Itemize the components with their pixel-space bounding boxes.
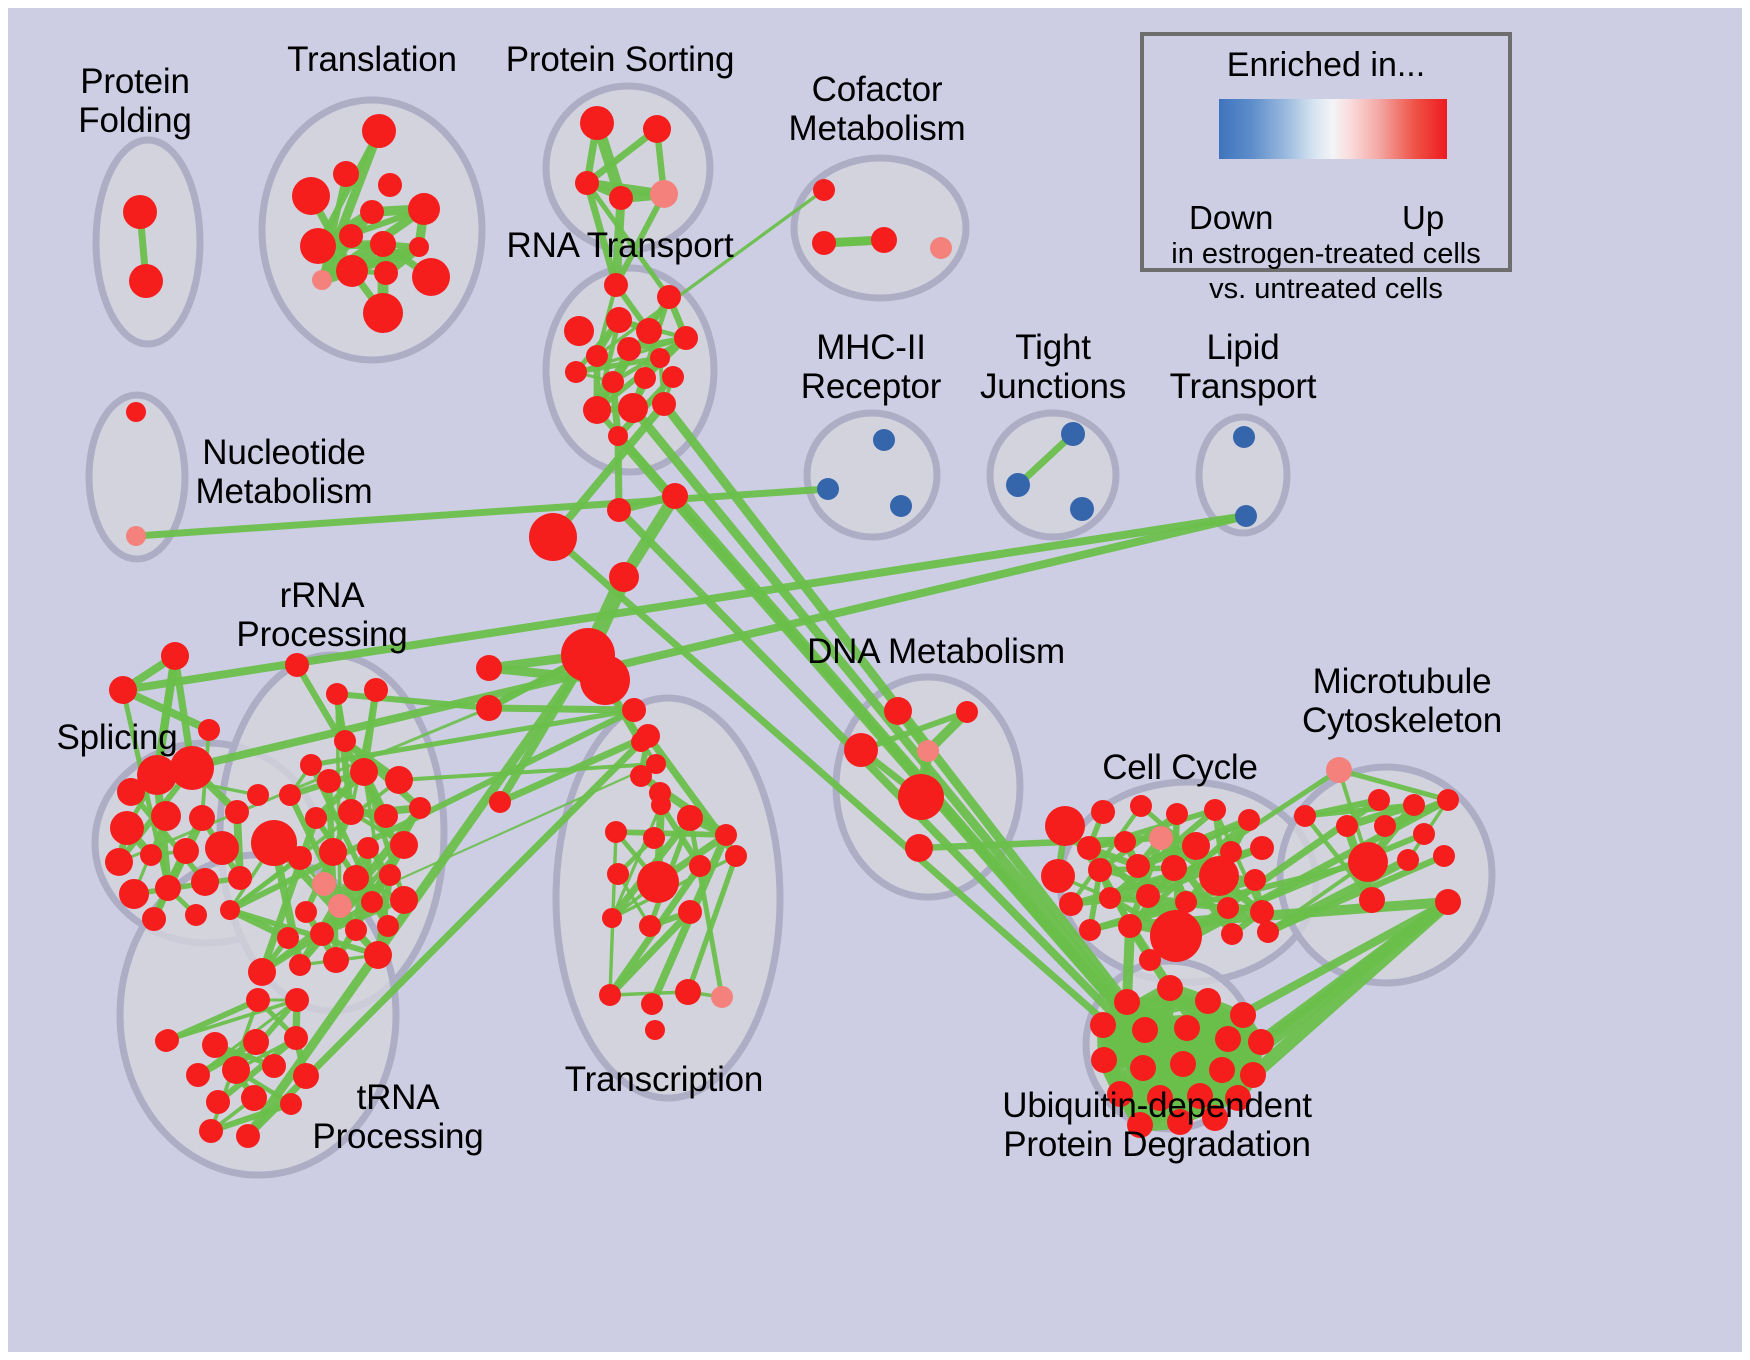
network-node [362,114,396,148]
network-node [1059,892,1083,916]
network-node [339,224,363,248]
network-node [385,766,413,794]
network-node [236,1124,260,1148]
network-node [246,988,270,1012]
network-node [602,371,624,393]
network-node [338,799,364,825]
network-node [343,865,369,891]
network-node [1088,858,1112,882]
network-node [142,907,166,931]
network-node [917,740,939,762]
network-node [1217,897,1239,919]
network-node [1397,849,1419,871]
cluster-label-rrna-processing: rRNA Processing [212,576,432,654]
network-node [361,891,383,913]
network-node [1041,859,1075,893]
network-node [905,834,933,862]
network-node [1209,1057,1235,1083]
network-node [643,827,665,849]
network-node [678,900,702,924]
network-node [1348,842,1388,882]
cluster-hull [96,140,200,344]
network-node [350,758,378,786]
network-node [1090,1012,1116,1038]
network-node [1413,823,1435,845]
network-node [241,1085,267,1111]
network-node [650,348,670,368]
network-node [622,698,646,722]
cluster-hull [990,413,1116,537]
network-node [157,1029,179,1051]
network-node [604,273,628,297]
network-node [409,797,431,819]
network-node [1233,426,1255,448]
network-node [328,894,352,918]
legend-color-bar [1219,99,1447,159]
network-node [173,838,199,864]
network-node [1257,921,1279,943]
network-node [607,863,629,885]
network-node [364,941,392,969]
network-node [161,642,189,670]
network-node [1061,422,1085,446]
network-node [1170,1051,1196,1077]
network-node [1433,845,1455,867]
legend-high-label: Up [1402,199,1444,237]
network-node [873,429,895,451]
network-node [364,678,388,702]
network-node [151,801,181,831]
network-node [583,396,611,424]
network-node [599,984,621,1006]
network-node [1091,800,1115,824]
network-node [1248,1029,1274,1055]
cluster-label-transcription: Transcription [554,1060,774,1099]
network-node [360,200,384,224]
network-node [898,774,944,820]
cluster-label-mhcii-receptor: MHC-II Receptor [771,328,971,406]
network-node [575,171,599,195]
network-node [637,861,679,903]
network-node [817,478,839,500]
cluster-label-protein-sorting: Protein Sorting [495,40,745,79]
network-node [225,800,249,824]
network-node [262,1054,286,1078]
network-node [930,237,952,259]
network-node [657,285,681,309]
network-node [890,495,912,517]
cluster-label-ubiquitin-protein-degradation: Ubiquitin-dependent Protein Degradation [997,1086,1317,1164]
network-node [606,307,632,333]
network-node [412,258,450,296]
network-node [1070,497,1094,521]
network-node [345,919,367,941]
network-node [126,402,146,422]
network-node [689,855,711,877]
network-node [1403,794,1425,816]
network-node [285,988,309,1012]
network-node [189,805,215,831]
cluster-label-protein-folding: Protein Folding [35,62,235,140]
network-node [1126,854,1150,878]
network-node [248,958,276,986]
network-node [602,908,622,928]
network-node [813,179,835,201]
cluster-label-lipid-transport: Lipid Transport [1143,328,1343,406]
network-node [119,879,149,909]
network-node [333,161,359,187]
network-node [884,697,912,725]
cluster-hull [807,413,937,537]
network-node [812,231,836,255]
network-node [652,392,676,416]
network-node [1204,799,1226,821]
network-node [305,807,327,829]
network-node [140,844,162,866]
network-node [643,115,671,143]
network-node [228,866,252,890]
network-node [1221,923,1243,945]
cluster-label-cofactor-metabolism: Cofactor Metabolism [761,70,993,148]
network-node [1182,832,1210,860]
network-node [1130,1055,1156,1081]
network-node [1199,856,1239,896]
network-node [109,676,137,704]
network-node [295,901,317,923]
network-node [300,754,322,776]
network-node [110,811,144,845]
network-node [186,1063,210,1087]
network-node [1161,855,1187,881]
network-edge [616,832,726,835]
network-node [1175,891,1197,913]
network-node [650,180,678,208]
network-node [378,173,402,197]
network-node [617,337,641,361]
network-node [317,769,341,793]
network-node [1139,949,1161,971]
network-node [607,498,631,522]
network-node [284,1026,308,1050]
network-node [1157,975,1183,1001]
network-node [636,318,662,344]
network-node [1368,789,1390,811]
cluster-label-tight-junctions: Tight Junctions [953,328,1153,406]
network-node [1079,919,1101,941]
network-node [374,804,398,828]
network-node [1130,795,1152,817]
network-node [580,655,630,705]
network-node [725,845,747,867]
network-node [374,261,398,285]
network-node [580,106,614,140]
network-node [677,805,703,831]
network-node [129,264,163,298]
network-node [292,177,330,215]
cluster-label-microtubule-cytoskeleton: Microtubule Cytoskeleton [1272,662,1532,740]
network-node [206,1090,230,1114]
network-node [202,1032,228,1058]
network-node [123,195,157,229]
network-node [205,831,239,865]
network-node [1195,988,1221,1014]
legend-title: Enriched in... [1144,46,1508,85]
legend-subtitle-line1: in estrogen-treated cells [1144,238,1508,271]
network-node [334,730,356,752]
network-node [641,993,663,1015]
cluster-label-nucleotide-metabolism: Nucleotide Metabolism [168,433,400,511]
cluster-label-translation: Translation [262,40,482,79]
network-node [1244,869,1266,891]
network-node [1250,836,1274,860]
network-node [956,701,978,723]
network-node [715,824,737,846]
network-node [618,393,648,423]
network-node [379,864,401,886]
network-node [1045,806,1085,846]
network-node [476,655,502,681]
network-edge [489,708,634,710]
network-node [377,915,399,937]
network-node [1235,505,1257,527]
network-node [1250,900,1274,924]
network-node [1114,831,1136,853]
cluster-label-cell-cycle: Cell Cycle [1080,748,1280,787]
network-node [247,784,269,806]
network-node [609,562,639,592]
network-node [285,653,309,677]
network-node [565,361,587,383]
network-node [1437,789,1459,811]
network-node [155,875,181,901]
network-node [185,904,207,926]
network-node [674,326,698,350]
network-node [662,366,684,388]
network-node [222,1056,250,1084]
network-node [126,526,146,546]
network-node [220,900,240,920]
cluster-label-dna-metabolism: DNA Metabolism [806,632,1066,671]
network-node [288,846,312,870]
network-node [300,228,336,264]
network-node [476,695,502,721]
network-node [357,837,379,859]
network-node [409,237,429,257]
network-node [277,927,299,949]
network-node [662,483,688,509]
network-node [105,848,133,876]
network-node [605,821,627,843]
enrichment-network-figure: Protein Folding Translation Protein Sort… [0,0,1750,1360]
network-node [1149,826,1173,850]
network-node [289,954,311,976]
network-node [363,293,403,333]
network-node [319,838,347,866]
network-node [312,872,336,896]
network-node [1238,809,1260,831]
network-node [871,227,897,253]
network-node [649,782,671,804]
network-node [639,915,661,937]
network-node [675,979,701,1005]
network-node [1359,887,1385,913]
network-node [608,426,628,446]
network-node [634,367,656,389]
network-node [1435,889,1461,915]
network-node [117,778,145,806]
network-node [243,1029,269,1055]
network-node [1336,815,1358,837]
network-node [1326,757,1352,783]
cluster-label-splicing: Splicing [27,718,207,757]
network-node [1099,887,1121,909]
cluster-label-trna-processing: tRNA Processing [288,1078,508,1156]
network-node [1166,803,1188,825]
network-node [1230,1002,1256,1028]
network-node [199,1119,223,1143]
network-node [336,255,368,287]
network-node [1118,914,1142,938]
network-node [844,733,878,767]
network-node [609,186,633,210]
network-node [1114,989,1140,1015]
network-node [529,513,577,561]
network-node [1374,815,1396,837]
network-node [1136,884,1160,908]
network-node [1174,1015,1200,1041]
network-node [279,784,301,806]
network-node [646,754,666,774]
network-node [1240,1062,1266,1088]
network-node [390,831,418,859]
network-node [323,947,349,973]
legend-low-label: Down [1189,199,1273,237]
network-node [191,868,219,896]
network-node [1132,1017,1158,1043]
network-node [1006,473,1030,497]
network-node [711,986,733,1008]
network-node [586,345,608,367]
network-node [310,922,334,946]
cluster-label-rna-transport: RNA Transport [505,226,735,265]
network-node [390,886,418,914]
network-node [1215,1026,1241,1052]
network-node [564,316,594,346]
network-node [408,193,440,225]
network-node [631,732,651,752]
network-node [1091,1047,1117,1073]
network-node [370,231,396,257]
network-node [1294,805,1316,827]
network-node [1077,836,1101,860]
legend-subtitle-line2: vs. untreated cells [1144,273,1508,306]
legend-panel: Enriched in... Down Up in estrogen-treat… [1140,32,1512,272]
network-node [645,1020,665,1040]
network-node [312,270,332,290]
network-node [489,791,511,813]
network-node [326,683,348,705]
